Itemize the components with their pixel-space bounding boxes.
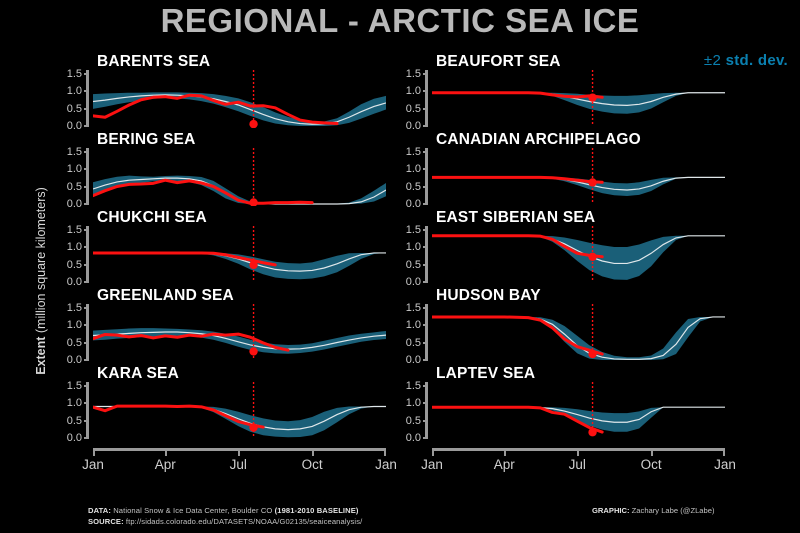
legend-symbol: ±2 bbox=[704, 52, 721, 69]
y-axis-spine bbox=[425, 304, 428, 360]
x-tick-label: Oct bbox=[292, 458, 332, 472]
y-axis-spine bbox=[86, 70, 89, 126]
footer-source-text: ftp://sidads.colorado.edu/DATASETS/NOAA/… bbox=[124, 517, 363, 526]
y-tick-label: 0.0 bbox=[56, 199, 82, 210]
footer-graphic-text: Zachary Labe (@ZLabe) bbox=[630, 506, 715, 515]
y-tick-label: 1.0 bbox=[395, 164, 421, 175]
plot-area-east-siberian-sea bbox=[432, 226, 725, 284]
current-value-dot bbox=[249, 423, 257, 431]
plot-area-kara-sea bbox=[93, 382, 386, 440]
y-tick-label: 0.5 bbox=[395, 182, 421, 193]
y-tick-label: 1.5 bbox=[395, 147, 421, 158]
panel-title-laptev-sea: LAPTEV SEA bbox=[436, 365, 535, 383]
y-tick-label: 1.5 bbox=[56, 303, 82, 314]
plot-area-beaufort-sea bbox=[432, 70, 725, 128]
current-value-dot bbox=[249, 198, 257, 206]
x-tick-label: Oct bbox=[631, 458, 671, 472]
panel-title-barents-sea: BARENTS SEA bbox=[97, 53, 210, 71]
y-tick-label: 1.5 bbox=[56, 381, 82, 392]
x-tick-mark bbox=[238, 451, 240, 456]
panel-title-canadian-archipelago: CANADIAN ARCHIPELAGO bbox=[436, 131, 641, 149]
plot-area-bering-sea bbox=[93, 148, 386, 206]
x-tick-label: Jan bbox=[73, 458, 113, 472]
current-value-dot bbox=[588, 93, 596, 101]
y-tick-label: 1.0 bbox=[56, 164, 82, 175]
y-tick-label: 1.0 bbox=[395, 320, 421, 331]
footer-data-credit: DATA: National Snow & Ice Data Center, B… bbox=[88, 506, 362, 527]
panel-title-east-siberian-sea: EAST SIBERIAN SEA bbox=[436, 209, 595, 227]
plot-area-hudson-bay bbox=[432, 304, 725, 362]
y-tick-label: 1.0 bbox=[395, 86, 421, 97]
y-tick-label: 1.0 bbox=[395, 242, 421, 253]
current-value-dot bbox=[588, 178, 596, 186]
footer-source-label: SOURCE: bbox=[88, 517, 124, 526]
y-tick-label: 1.5 bbox=[395, 69, 421, 80]
y-tick-label: 1.5 bbox=[395, 381, 421, 392]
x-tick-label: Jan bbox=[705, 458, 745, 472]
y-tick-label: 0.5 bbox=[56, 260, 82, 271]
y-axis-spine bbox=[425, 148, 428, 204]
y-tick-label: 0.0 bbox=[395, 277, 421, 288]
chart-figure: REGIONAL - ARCTIC SEA ICE ±2 std. dev. E… bbox=[0, 0, 800, 533]
x-tick-mark bbox=[165, 451, 167, 456]
plot-area-chukchi-sea bbox=[93, 226, 386, 284]
footer-data-text: National Snow & Ice Data Center, Boulder… bbox=[111, 506, 275, 515]
y-tick-label: 1.0 bbox=[56, 398, 82, 409]
y-tick-label: 0.0 bbox=[56, 433, 82, 444]
panel-title-beaufort-sea: BEAUFORT SEA bbox=[436, 53, 561, 71]
y-tick-label: 1.0 bbox=[395, 398, 421, 409]
current-year-line bbox=[432, 177, 602, 182]
current-value-dot bbox=[588, 253, 596, 261]
panel-title-chukchi-sea: CHUKCHI SEA bbox=[97, 209, 207, 227]
panel-title-greenland-sea: GREENLAND SEA bbox=[97, 287, 234, 305]
y-tick-label: 1.0 bbox=[56, 320, 82, 331]
y-axis-spine bbox=[86, 148, 89, 204]
y-tick-label: 1.0 bbox=[56, 86, 82, 97]
y-tick-label: 1.5 bbox=[395, 303, 421, 314]
y-axis-spine bbox=[425, 226, 428, 282]
current-year-line bbox=[93, 180, 312, 203]
current-value-dot bbox=[588, 350, 596, 358]
x-tick-label: Apr bbox=[145, 458, 185, 472]
y-axis-spine bbox=[425, 382, 428, 438]
y-tick-label: 0.0 bbox=[395, 199, 421, 210]
footer-graphic-credit: GRAPHIC: Zachary Labe (@ZLabe) bbox=[592, 506, 715, 517]
footer-data-line: DATA: National Snow & Ice Data Center, B… bbox=[88, 506, 362, 517]
x-tick-label: Jan bbox=[412, 458, 452, 472]
y-axis-spine bbox=[425, 70, 428, 126]
x-tick-mark bbox=[504, 451, 506, 456]
y-tick-label: 1.5 bbox=[56, 225, 82, 236]
std-dev-band bbox=[432, 407, 725, 432]
y-tick-label: 1.5 bbox=[56, 69, 82, 80]
y-tick-label: 0.5 bbox=[56, 182, 82, 193]
std-dev-band bbox=[432, 236, 725, 280]
x-tick-mark bbox=[723, 451, 725, 456]
y-tick-label: 1.5 bbox=[56, 147, 82, 158]
footer-source-line: SOURCE: ftp://sidads.colorado.edu/DATASE… bbox=[88, 517, 362, 528]
y-tick-label: 0.5 bbox=[56, 416, 82, 427]
footer-graphic-label: GRAPHIC: bbox=[592, 506, 630, 515]
y-tick-label: 0.0 bbox=[56, 355, 82, 366]
page-title: REGIONAL - ARCTIC SEA ICE bbox=[0, 2, 800, 40]
y-tick-label: 0.0 bbox=[56, 277, 82, 288]
y-axis-spine bbox=[86, 226, 89, 282]
y-tick-label: 0.5 bbox=[395, 338, 421, 349]
y-tick-label: 0.5 bbox=[56, 338, 82, 349]
panel-title-hudson-bay: HUDSON BAY bbox=[436, 287, 541, 305]
panel-title-bering-sea: BERING SEA bbox=[97, 131, 195, 149]
x-tick-label: Jul bbox=[557, 458, 597, 472]
y-axis-label-units: (million square kilometers) bbox=[34, 187, 48, 336]
y-tick-label: 0.0 bbox=[395, 433, 421, 444]
std-dev-band bbox=[432, 317, 725, 360]
footer-data-baseline: (1981-2010 BASELINE) bbox=[275, 506, 359, 515]
x-tick-mark bbox=[384, 451, 386, 456]
current-value-dot bbox=[249, 120, 257, 128]
panel-title-kara-sea: KARA SEA bbox=[97, 365, 179, 383]
x-tick-label: Jul bbox=[218, 458, 258, 472]
plot-area-greenland-sea bbox=[93, 304, 386, 362]
y-tick-label: 0.5 bbox=[395, 104, 421, 115]
current-value-dot bbox=[588, 428, 596, 436]
x-tick-mark bbox=[577, 451, 579, 456]
x-tick-label: Jan bbox=[366, 458, 406, 472]
y-axis-label: Extent (million square kilometers) bbox=[34, 136, 48, 426]
plot-area-canadian-archipelago bbox=[432, 148, 725, 206]
current-value-dot bbox=[249, 261, 257, 269]
plot-area-barents-sea bbox=[93, 70, 386, 128]
y-axis-label-bold: Extent bbox=[34, 337, 48, 375]
x-tick-mark bbox=[651, 451, 653, 456]
y-tick-label: 0.5 bbox=[395, 260, 421, 271]
y-tick-label: 0.5 bbox=[56, 104, 82, 115]
x-tick-mark bbox=[432, 451, 434, 456]
y-axis-spine bbox=[86, 304, 89, 360]
footer-data-label: DATA: bbox=[88, 506, 111, 515]
x-tick-label: Apr bbox=[484, 458, 524, 472]
x-tick-mark bbox=[312, 451, 314, 456]
y-tick-label: 0.0 bbox=[395, 121, 421, 132]
plot-area-laptev-sea bbox=[432, 382, 725, 440]
std-dev-band bbox=[93, 92, 386, 126]
legend-label: std. dev. bbox=[726, 52, 788, 69]
legend-std-dev: ±2 std. dev. bbox=[704, 52, 788, 69]
y-tick-label: 0.0 bbox=[56, 121, 82, 132]
y-tick-label: 1.0 bbox=[56, 242, 82, 253]
y-tick-label: 0.5 bbox=[395, 416, 421, 427]
x-tick-mark bbox=[93, 451, 95, 456]
y-axis-spine bbox=[86, 382, 89, 438]
y-tick-label: 0.0 bbox=[395, 355, 421, 366]
current-value-dot bbox=[249, 347, 257, 355]
y-tick-label: 1.5 bbox=[395, 225, 421, 236]
